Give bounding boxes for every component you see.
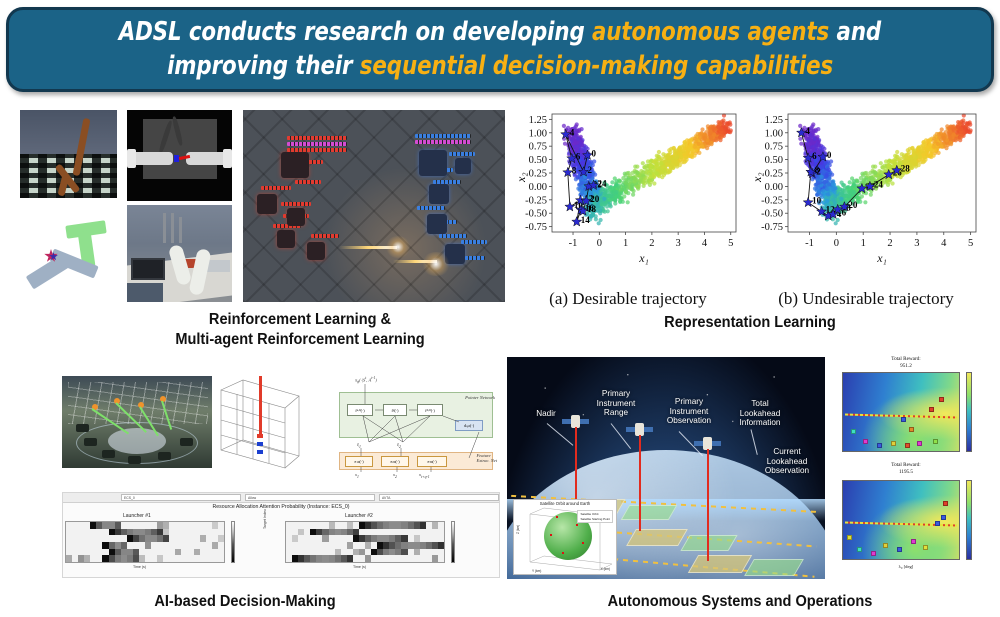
heatmap-cell [438, 529, 444, 536]
satellite-start-point [550, 534, 552, 536]
heatmap-cell [218, 542, 224, 549]
caption-rl-line1: Reinforcement Learning & [121, 310, 478, 330]
reward-top-field [842, 372, 960, 452]
svg-text:24: 24 [874, 179, 884, 189]
svg-text:1.00: 1.00 [529, 128, 547, 139]
inset-zlabel: Z (km) [516, 525, 520, 534]
heatmap-toolbar: ECS_0 Allow AVTA [63, 493, 499, 503]
blue-unit [455, 158, 471, 174]
bimanual-robot-simulation [127, 110, 232, 201]
satellite-observation-illustration: Nadir Primary Instrument Range Primary I… [507, 357, 825, 579]
svg-text:1.25: 1.25 [765, 115, 783, 126]
health-bar-red [281, 202, 311, 206]
heatmap-cell [438, 542, 444, 549]
observation-swath [688, 555, 752, 573]
lookahead-swath [621, 505, 678, 520]
svg-text:20: 20 [590, 194, 600, 204]
muzzle-flare [421, 252, 451, 276]
mode-select[interactable]: Allow [245, 494, 375, 501]
kitchen-rod [179, 217, 182, 243]
inset-ylabel: Y (km) [532, 569, 541, 573]
satellite-solar-panel [644, 427, 653, 432]
svg-text:4: 4 [702, 238, 708, 249]
svg-text:5: 5 [728, 238, 733, 249]
svg-text:10: 10 [812, 196, 822, 206]
reward-landscape-plot-top: Total Reward: 951.2 [826, 356, 986, 468]
svg-text:4: 4 [570, 127, 575, 137]
trajectory-marker-red [257, 434, 263, 438]
svg-text:x₁: x₁ [876, 251, 887, 265]
reward-bottom-field [842, 480, 960, 560]
svg-text:14: 14 [581, 215, 591, 225]
launcher2-heatmap [285, 521, 445, 563]
defense-unit [158, 452, 171, 460]
heatmap-cell [218, 529, 224, 536]
svg-text:0.00: 0.00 [765, 182, 783, 193]
kitchen-cabinet [127, 283, 163, 302]
robot-workspace [143, 119, 217, 179]
svg-text:-1: -1 [569, 238, 578, 249]
target-square [901, 417, 906, 422]
launcher1-title: Launcher #1 [123, 513, 151, 519]
target-square [847, 535, 852, 540]
launcher1-heatmap [65, 521, 225, 563]
caption-autonomous-systems: Autonomous Systems and Operations [514, 592, 965, 612]
target-square [871, 551, 876, 556]
reward-top-title: Total Reward: 951.2 [826, 356, 986, 369]
scatter-plot-desirable-trajectory: x₂ 024681012141618202224 1.251.000.750.5… [512, 104, 744, 309]
heatmap-cell [218, 549, 224, 556]
label-current-lookahead-observation: Current Lookahead Observation [755, 447, 819, 476]
health-bar-red [261, 186, 291, 190]
health-bar-blue [465, 256, 485, 260]
kitchen-manipulation-simulation [127, 205, 232, 302]
svg-text:0.75: 0.75 [765, 142, 783, 153]
red-unit [307, 242, 325, 260]
banner-highlight-2: sequential decision-making capabilities [360, 51, 833, 81]
svg-text:1: 1 [623, 238, 628, 249]
blue-unit [427, 214, 447, 234]
launcher1-colorbar [231, 521, 235, 563]
trajectory-3d-axes [213, 372, 301, 476]
satellite-start-point [582, 542, 584, 544]
3d-trajectory-plot [213, 372, 301, 476]
svg-text:-0.50: -0.50 [761, 209, 783, 220]
satellite-start-point [576, 524, 578, 526]
caption-reinforcement-learning: Reinforcement Learning & Multi-agent Rei… [121, 310, 478, 351]
instance-select[interactable]: ECS_0 [121, 494, 241, 501]
svg-text:0.75: 0.75 [529, 142, 547, 153]
health-bar-red [287, 136, 347, 140]
svg-text:-0.75: -0.75 [761, 222, 783, 233]
svg-text:2: 2 [887, 238, 892, 249]
health-bar-blue [415, 134, 471, 138]
reward-bottom-xlabel: λ₀ [deg] [826, 564, 986, 569]
right-arm-base [223, 149, 232, 168]
mujoco-hopper-simulation [20, 110, 117, 198]
scatter-a-canvas: 024681012141618202224 1.251.000.750.500.… [512, 104, 744, 282]
instrument-beam [639, 435, 641, 531]
satellite-solar-panel [712, 441, 721, 446]
banner-text-1b: and [829, 17, 881, 47]
caption-representation-learning: Representation Learning [534, 313, 966, 333]
svg-text:-1: -1 [805, 238, 814, 249]
defense-unit [128, 456, 141, 464]
reward-bottom-colorbar [966, 480, 972, 560]
svg-text:3: 3 [676, 238, 681, 249]
heatmap-title: Resource Allocation Attention Probabilit… [63, 504, 499, 510]
launcher2-colorbar [451, 521, 455, 563]
inset-xlabel: X (km) [601, 567, 610, 571]
health-bar-magenta [287, 142, 347, 146]
defense-unit [180, 438, 193, 446]
health-bar-blue [461, 240, 487, 244]
target-square [897, 547, 902, 552]
left-arm-base [127, 149, 136, 168]
svg-text:-0.50: -0.50 [525, 209, 547, 220]
svg-text:6: 6 [812, 151, 817, 161]
lookahead-swath [680, 535, 737, 551]
satellite-orbit-inset: Satellite Orbit around Earth Satellite O… [513, 499, 617, 575]
target-square [923, 545, 928, 550]
red-unit [277, 230, 295, 248]
target-square [877, 443, 882, 448]
svg-text:6: 6 [576, 152, 581, 162]
trajectory-marker-blue [257, 450, 263, 454]
svg-text:-0.25: -0.25 [525, 195, 547, 206]
banner-line-1: ADSL conducts research on developing aut… [119, 16, 881, 49]
banner-text-1a: ADSL conducts research on developing [119, 17, 592, 47]
health-bar-red [295, 180, 321, 184]
satellite-solar-panel [694, 441, 703, 446]
heatmap-cell [218, 535, 224, 542]
scatter-a-caption: (a) Desirable trajectory [512, 289, 744, 309]
target-square [909, 427, 914, 432]
defense-unit [84, 438, 97, 446]
svg-text:0.25: 0.25 [529, 169, 547, 180]
svg-text:4: 4 [941, 238, 947, 249]
microwave [131, 258, 165, 280]
svg-text:2: 2 [588, 165, 593, 175]
kitchen-rod [171, 213, 174, 243]
muzzle-flare [385, 236, 411, 258]
heatmap-cell [218, 522, 224, 529]
svg-text:0.50: 0.50 [765, 155, 783, 166]
health-bar-blue [449, 152, 475, 156]
satellite-solar-panel [562, 419, 571, 424]
reward-top-colorbar [966, 372, 972, 452]
satellite-solar-panel [580, 419, 589, 424]
banner-line-2: improving their sequential decision-maki… [167, 50, 833, 83]
red-unit [287, 208, 305, 226]
heatmap-cell [438, 535, 444, 542]
reward-bottom-title: Total Reward: 1195.5 [826, 462, 986, 475]
svg-text:0.50: 0.50 [529, 155, 547, 166]
pn-connectors [303, 370, 501, 482]
target-square [863, 439, 868, 444]
label-total-lookahead-information: Total Lookahead Information [729, 399, 791, 428]
heatmap-cell [438, 555, 444, 562]
svg-text:0.25: 0.25 [765, 169, 783, 180]
reward-landscape-plot-bottom: Total Reward: 1195.5 λ₀ [deg] [826, 462, 986, 580]
attention-heatmap-window: ECS_0 Allow AVTA Resource Allocation Att… [62, 492, 500, 578]
label-primary-instrument-range: Primary Instrument Range [585, 389, 647, 418]
svg-text:3: 3 [914, 238, 919, 249]
scatter-b-canvas: 0246810121416182022242628 1.251.000.750.… [748, 104, 984, 282]
target-square [933, 439, 938, 444]
legend-start-point: Satellite Starting Point [580, 517, 610, 522]
algorithm-select[interactable]: AVTA [379, 494, 499, 501]
svg-text:20: 20 [848, 200, 858, 210]
inset-legend: Satellite Orbit Satellite Starting Point [577, 510, 613, 523]
satellite-solar-panel [626, 427, 635, 432]
blue-unit [419, 150, 447, 176]
svg-text:-0.25: -0.25 [761, 195, 783, 206]
defense-unit [102, 450, 115, 458]
svg-text:0: 0 [827, 150, 832, 160]
scatter-b-caption: (b) Undesirable trajectory [748, 289, 984, 309]
satellite-start-point [556, 516, 558, 518]
target-square [929, 407, 934, 412]
target-square [857, 547, 862, 552]
svg-text:0: 0 [597, 238, 602, 249]
t-block-push-task [20, 205, 120, 302]
launcher2-ylabel: Target Index [263, 509, 267, 529]
svg-text:24: 24 [598, 178, 608, 188]
svg-text:5: 5 [968, 238, 973, 249]
instrument-beam [707, 449, 709, 561]
svg-text:0.00: 0.00 [529, 182, 547, 193]
svg-text:28: 28 [901, 163, 911, 173]
svg-text:0: 0 [834, 238, 839, 249]
starcraft2-multiagent-battle [243, 110, 505, 302]
svg-text:18: 18 [587, 204, 597, 214]
health-bar-blue [417, 206, 445, 210]
svg-text:1: 1 [861, 238, 866, 249]
target-square [939, 397, 944, 402]
launcher2-xlabel: Time (s) [353, 565, 366, 569]
target-square [851, 429, 856, 434]
target-square [935, 521, 940, 526]
target-square [883, 543, 888, 548]
observation-swath [626, 529, 688, 546]
target-square [905, 443, 910, 448]
svg-text:8: 8 [572, 166, 577, 176]
health-bar-blue [439, 234, 467, 238]
caption-rl-line2: Multi-agent Reinforcement Learning [121, 330, 478, 350]
health-bar-red [311, 234, 339, 238]
caption-ai-decision-making: AI-based Decision-Making [71, 592, 419, 612]
header-banner: ADSL conducts research on developing aut… [6, 7, 994, 92]
svg-text:8: 8 [815, 165, 820, 175]
missile-defense-illustration [62, 376, 212, 468]
blue-unit [429, 184, 449, 204]
svg-text:x₁: x₁ [638, 251, 649, 265]
svg-text:0: 0 [592, 148, 597, 158]
red-unit [257, 194, 277, 214]
red-unit [281, 152, 309, 178]
target-square [943, 501, 948, 506]
heatmap-cell [218, 555, 224, 562]
nadir-beam [575, 427, 577, 501]
svg-text:2: 2 [649, 238, 654, 249]
banner-highlight-1: autonomous agents [592, 17, 829, 47]
label-nadir: Nadir [525, 409, 567, 419]
health-bar-magenta [415, 140, 471, 144]
launcher2-title: Launcher #2 [345, 513, 373, 519]
svg-text:-0.75: -0.75 [525, 222, 547, 233]
lookahead-swath [744, 559, 804, 576]
target-square [941, 515, 946, 520]
target-square [911, 539, 916, 544]
launcher1-xlabel: Time (s) [133, 565, 146, 569]
kitchen-rod [163, 213, 166, 243]
defense-unit [76, 424, 89, 432]
heatmap-cell [438, 522, 444, 529]
banner-text-2a: improving their [167, 51, 360, 81]
svg-text:4: 4 [805, 126, 810, 136]
target-square [891, 441, 896, 446]
trajectory-vertical-line [259, 376, 262, 438]
svg-text:1.25: 1.25 [529, 115, 547, 126]
trajectory-marker-blue [257, 442, 263, 446]
pointer-network-architecture-diagram: Pointer Network fe,θ(·) fg(·) fd,θ(·) dq… [303, 370, 501, 482]
heatmap-cell [438, 549, 444, 556]
scatter-plot-undesirable-trajectory: x₂ 0246810121416182022242628 1.251.000.7… [748, 104, 984, 309]
svg-text:1.00: 1.00 [765, 128, 783, 139]
ground-track [845, 522, 957, 527]
target-square [917, 441, 922, 446]
label-primary-instrument-observation: Primary Instrument Observation [655, 397, 723, 426]
satellite-start-point [562, 552, 564, 554]
